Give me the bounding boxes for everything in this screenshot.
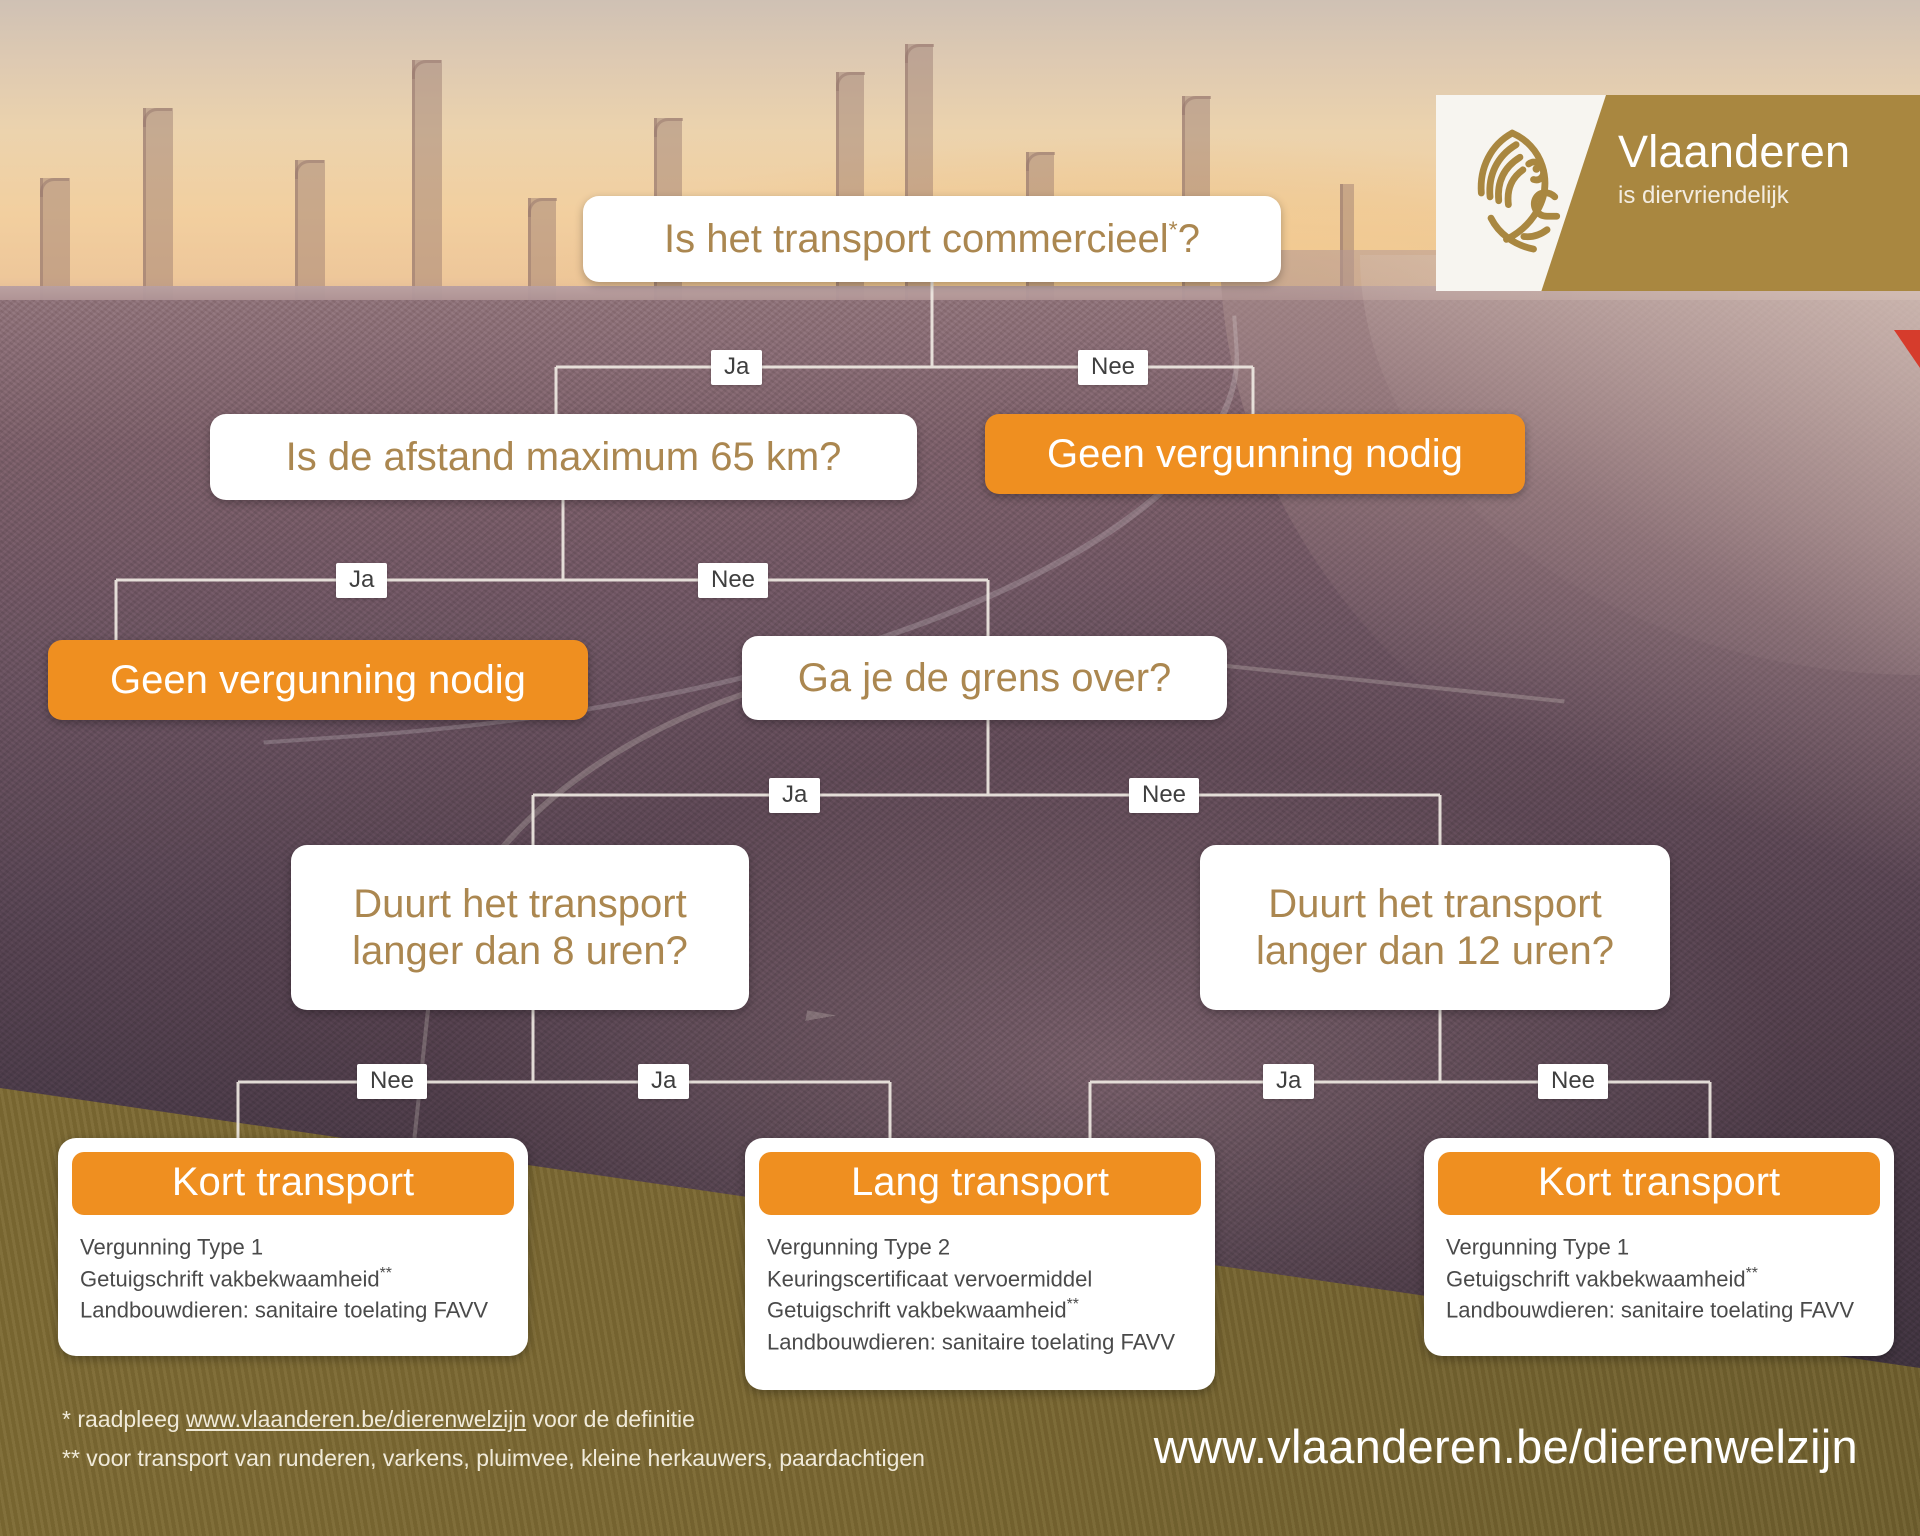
question-node-grens[interactable]: Ga je de grens over? — [742, 636, 1227, 720]
result-line: Getuigschrift vakbekwaamheid** — [767, 1294, 1193, 1326]
result-card-lang-transport: Lang transport Vergunning Type 2 Keuring… — [745, 1138, 1215, 1390]
result-card-title: Lang transport — [759, 1152, 1201, 1215]
footnotes: * raadpleeg www.vlaanderen.be/dierenwelz… — [62, 1400, 925, 1478]
result-card-lines: Vergunning Type 1 Getuigschrift vakbekwa… — [1438, 1215, 1880, 1326]
question-node-afstand[interactable]: Is de afstand maximum 65 km? — [210, 414, 917, 500]
edge-label-q5-nee: Nee — [1538, 1064, 1608, 1099]
result-line: Landbouwdieren: sanitaire toelating FAVV — [80, 1294, 506, 1326]
result-line: Landbouwdieren: sanitaire toelating FAVV — [767, 1326, 1193, 1358]
question-text: Is het transport commercieel*? — [638, 216, 1226, 262]
question-node-commercieel[interactable]: Is het transport commercieel*? — [583, 196, 1281, 282]
question-text: Is de afstand maximum 65 km? — [260, 434, 868, 480]
edge-label-q2-nee: Nee — [698, 563, 768, 598]
edge-label-q4-ja: Ja — [638, 1064, 689, 1099]
question-node-duur-8-uren[interactable]: Duurt het transport langer dan 8 uren? — [291, 845, 749, 1010]
footnote-2: ** voor transport van runderen, varkens,… — [62, 1439, 925, 1478]
question-node-duur-12-uren[interactable]: Duurt het transport langer dan 12 uren? — [1200, 845, 1670, 1010]
result-card-title: Kort transport — [1438, 1152, 1880, 1215]
question-text: Duurt het transport langer dan 12 uren? — [1230, 881, 1640, 974]
question-text: Ga je de grens over? — [772, 655, 1198, 701]
result-label: Geen vergunning nodig — [110, 658, 526, 703]
result-card-lines: Vergunning Type 1 Getuigschrift vakbekwa… — [72, 1215, 514, 1326]
edge-label-q2-ja: Ja — [336, 563, 387, 598]
site-url[interactable]: www.vlaanderen.be/dierenwelzijn — [1154, 1419, 1858, 1474]
result-line: Vergunning Type 1 — [1446, 1231, 1872, 1263]
edge-label-q3-ja: Ja — [769, 778, 820, 813]
edge-label-q1-nee: Nee — [1078, 350, 1148, 385]
edge-label-q3-nee: Nee — [1129, 778, 1199, 813]
footnote-link[interactable]: www.vlaanderen.be/dierenwelzijn — [186, 1406, 526, 1432]
edge-label-q4-nee: Nee — [357, 1064, 427, 1099]
result-line: Vergunning Type 2 — [767, 1231, 1193, 1263]
result-line: Getuigschrift vakbekwaamheid** — [1446, 1263, 1872, 1295]
result-line: Keuringscertificaat vervoermiddel — [767, 1263, 1193, 1295]
edge-label-q5-ja: Ja — [1263, 1064, 1314, 1099]
result-label: Geen vergunning nodig — [1047, 432, 1463, 477]
result-card-lines: Vergunning Type 2 Keuringscertificaat ve… — [759, 1215, 1201, 1358]
edge-label-q1-ja: Ja — [711, 350, 762, 385]
result-card-title: Kort transport — [72, 1152, 514, 1215]
result-geen-vergunning-nodig-2: Geen vergunning nodig — [48, 640, 588, 720]
result-line: Getuigschrift vakbekwaamheid** — [80, 1263, 506, 1295]
question-text: Duurt het transport langer dan 8 uren? — [326, 881, 714, 974]
result-geen-vergunning-nodig-1: Geen vergunning nodig — [985, 414, 1525, 494]
footnote-1: * raadpleeg www.vlaanderen.be/dierenwelz… — [62, 1400, 925, 1439]
result-card-kort-transport-left: Kort transport Vergunning Type 1 Getuigs… — [58, 1138, 528, 1356]
result-card-kort-transport-right: Kort transport Vergunning Type 1 Getuigs… — [1424, 1138, 1894, 1356]
infographic-canvas: Vlaanderen is diervriendelijk — [0, 0, 1920, 1536]
result-line: Vergunning Type 1 — [80, 1231, 506, 1263]
result-line: Landbouwdieren: sanitaire toelating FAVV — [1446, 1294, 1872, 1326]
flowchart: Is het transport commercieel*? Ja Nee Is… — [0, 0, 1920, 1536]
